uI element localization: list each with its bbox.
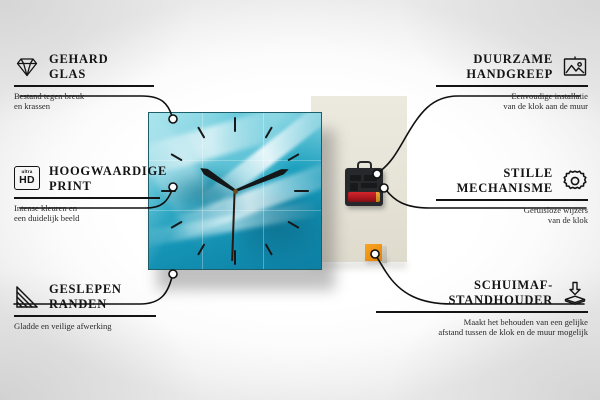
ultra-hd-hd-label: HD (19, 175, 35, 186)
feature-description: Bestand tegen breuk en krassen (14, 91, 162, 112)
clock-tick (235, 190, 309, 192)
clock-tick (234, 117, 236, 191)
mechanism-detail (361, 183, 377, 188)
beveled-edge-icon (14, 284, 40, 310)
feature-geslepen-randen: GESLEPEN RANDEN Gladde en veilige afwerk… (14, 282, 164, 331)
spacer-arrow-icon (562, 280, 588, 306)
mechanism-detail (364, 175, 377, 181)
feature-divider (14, 197, 160, 199)
mechanism-battery (348, 192, 379, 202)
feature-divider (436, 199, 588, 201)
feature-stille-mechanisme: STILLE MECHANISME Geruisloze wijzers van… (428, 166, 588, 226)
gear-icon (562, 168, 588, 194)
feature-title: HOOGWAARDIGE PRINT (49, 164, 167, 193)
clock-center-cap (233, 189, 238, 194)
feature-hoogwaardige-print: ultra HD HOOGWAARDIGE PRINT Intense kleu… (14, 164, 180, 224)
picture-frame-icon (562, 54, 588, 80)
infographic-stage: GEHARD GLAS Bestand tegen breuk en krass… (0, 0, 600, 400)
clock-mechanism (345, 168, 383, 206)
feature-divider (14, 315, 156, 317)
diamond-icon (14, 54, 40, 80)
feature-description: Eenvoudige installatie van de klok aan d… (428, 91, 588, 112)
mechanism-detail (350, 175, 361, 181)
feature-schuimafstandhouder: SCHUIMAF- STANDHOUDER Maakt het behouden… (368, 278, 588, 338)
feature-title: SCHUIMAF- STANDHOUDER (448, 278, 553, 307)
feature-title: GEHARD GLAS (49, 52, 108, 81)
feature-divider (376, 311, 588, 313)
feature-divider (14, 85, 154, 87)
feature-description: Gladde en veilige afwerking (14, 321, 164, 332)
feature-title: GESLEPEN RANDEN (49, 282, 122, 311)
ultra-hd-icon: ultra HD (14, 166, 40, 192)
feature-description: Maakt het behouden van een gelijke afsta… (368, 317, 588, 338)
feature-title: STILLE MECHANISME (457, 166, 553, 195)
feature-description: Intense kleuren en een duidelijk beeld (14, 203, 180, 224)
feature-duurzame-handgreep: DUURZAME HANDGREEP Eenvoudige installati… (428, 52, 588, 112)
feature-divider (436, 85, 588, 87)
battery-positive-terminal (376, 192, 380, 202)
glass-streak (164, 156, 322, 243)
mechanism-detail (350, 183, 358, 191)
feature-title: DUURZAME HANDGREEP (466, 52, 553, 81)
feature-gehard-glas: GEHARD GLAS Bestand tegen breuk en krass… (14, 52, 162, 112)
feature-description: Geruisloze wijzers van de klok (428, 205, 588, 226)
glass-shade (238, 194, 322, 266)
foam-spacer (365, 244, 382, 261)
foam-spacer-side (382, 246, 387, 263)
